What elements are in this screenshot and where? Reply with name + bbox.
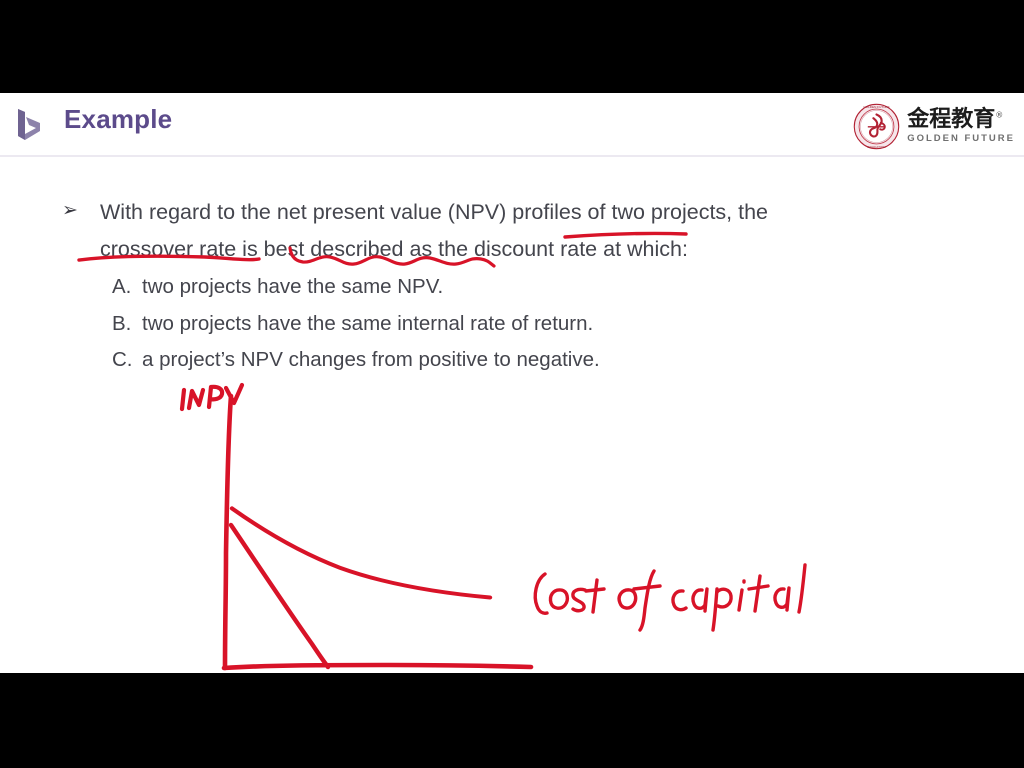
ink-npv-label <box>182 385 242 409</box>
video-player-screen: Example GOLDEN FUTURE EDUCATION <box>0 0 1024 768</box>
logo-english-name: GOLDEN FUTURE <box>907 134 1015 144</box>
ink-npv-profile-line-1 <box>231 525 328 667</box>
answer-choice-b-key: B. <box>112 306 142 343</box>
answer-choice-c-text: a project’s NPV changes from positive to… <box>142 348 600 371</box>
answer-choice-b[interactable]: B.two projects have the same internal ra… <box>112 306 972 343</box>
letterbox-bar-top <box>0 0 1024 93</box>
ink-chart-y-axis <box>225 396 231 668</box>
registered-trademark-icon: ® <box>995 110 1003 119</box>
svg-text:EDUCATION: EDUCATION <box>868 145 886 149</box>
answer-choices: A.two projects have the same NPV. B.two … <box>112 269 972 379</box>
answer-choice-a[interactable]: A.two projects have the same NPV. <box>112 269 972 306</box>
ink-npv-profile-line-2 <box>232 508 490 597</box>
logo-wordmark: 金程教育® GOLDEN FUTURE <box>907 109 1015 144</box>
answer-choice-a-key: A. <box>112 269 142 306</box>
question-line-2: crossover rate is best described as the … <box>100 237 688 261</box>
svg-text:GOLDEN FUTURE: GOLDEN FUTURE <box>863 105 889 109</box>
ink-chart-x-axis <box>224 665 531 668</box>
golden-future-seal-icon: GOLDEN FUTURE EDUCATION <box>853 103 900 150</box>
brand-logo: GOLDEN FUTURE EDUCATION 金程教育® GOLDEN FUT… <box>853 100 1015 152</box>
answer-choice-c[interactable]: C.a project’s NPV changes from positive … <box>112 342 972 379</box>
ink-annotation-layer <box>0 93 1024 673</box>
answer-choice-c-key: C. <box>112 342 142 379</box>
page-title: Example <box>64 104 172 135</box>
slide-header: Example GOLDEN FUTURE EDUCATION <box>0 93 1024 156</box>
logo-chinese-name: 金程教育® <box>907 109 1015 131</box>
ink-cost-of-capital-label <box>535 565 805 630</box>
answer-choice-a-text: two projects have the same NPV. <box>142 275 443 298</box>
header-divider <box>0 155 1024 157</box>
question-text: With regard to the net present value (NP… <box>100 194 930 268</box>
answer-choice-b-text: two projects have the same internal rate… <box>142 312 593 335</box>
question-line-1: With regard to the net present value (NP… <box>100 200 768 224</box>
presentation-slide: Example GOLDEN FUTURE EDUCATION <box>0 93 1024 673</box>
bullet-arrow-icon: ➢ <box>62 201 84 220</box>
bing-b-logo-icon <box>12 106 48 144</box>
letterbox-bar-bottom <box>0 673 1024 768</box>
